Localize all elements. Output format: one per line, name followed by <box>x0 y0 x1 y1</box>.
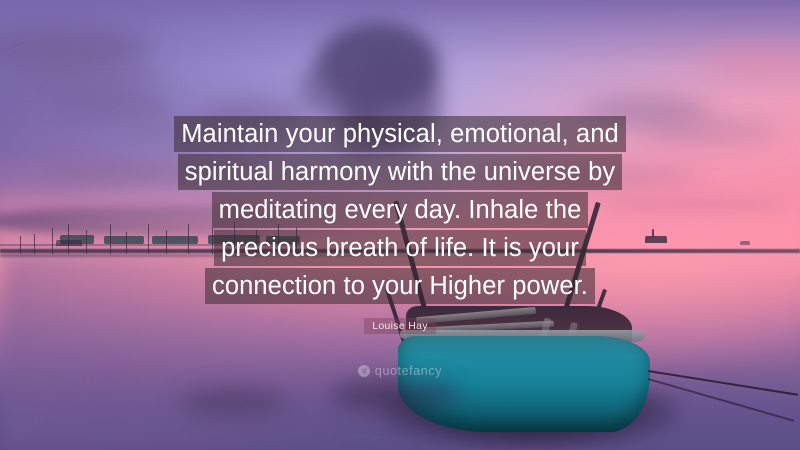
watermark-label: quotefancy <box>375 364 442 378</box>
quote-author-label: Louise Hay <box>364 318 436 334</box>
quote-poster: Maintain your physical, emotional, and s… <box>0 0 800 450</box>
quote-line: precious breath of life. It is your <box>214 230 586 266</box>
quote-text-block: Maintain your physical, emotional, and s… <box>0 116 800 306</box>
water-reflection-a <box>330 378 460 412</box>
quotefancy-logo-icon: qf <box>358 365 370 377</box>
water-reflection-b <box>178 388 288 416</box>
quote-author: Louise Hay <box>0 316 800 334</box>
quote-line: spiritual harmony with the universe by <box>178 154 622 190</box>
quote-line: meditating every day. Inhale the <box>212 192 589 228</box>
quote-line: connection to your Higher power. <box>205 268 595 304</box>
watermark[interactable]: qf quotefancy <box>0 364 800 378</box>
quote-line: Maintain your physical, emotional, and <box>174 116 626 152</box>
